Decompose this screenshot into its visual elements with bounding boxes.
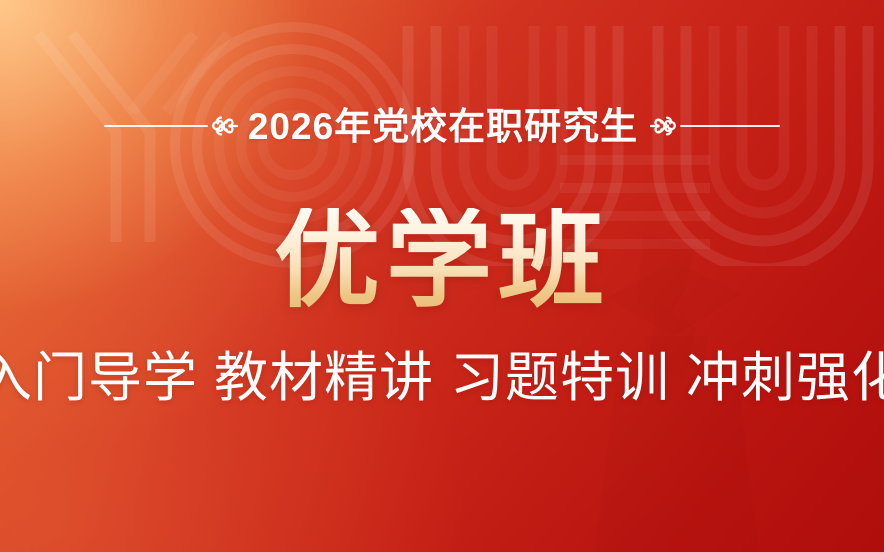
cloud-swirl-ornament-right-icon	[650, 111, 680, 141]
banner-title: 2026年党校在职研究生	[238, 108, 650, 145]
title-rule-left	[104, 125, 208, 127]
promo-banner: 2026年党校在职研究生 优学班 入门导学 教材精讲 习题特训 冲刺强化	[0, 0, 884, 552]
title-row: 2026年党校在职研究生	[0, 96, 884, 156]
banner-subtitle: 入门导学 教材精讲 习题特训 冲刺强化	[0, 351, 884, 405]
subtitle-row: 入门导学 教材精讲 习题特训 冲刺强化	[0, 342, 884, 414]
headline-row: 优学班	[0, 196, 884, 326]
title-rule-right	[680, 125, 780, 127]
cloud-swirl-ornament-left-icon	[208, 111, 238, 141]
banner-headline: 优学班	[274, 208, 610, 314]
